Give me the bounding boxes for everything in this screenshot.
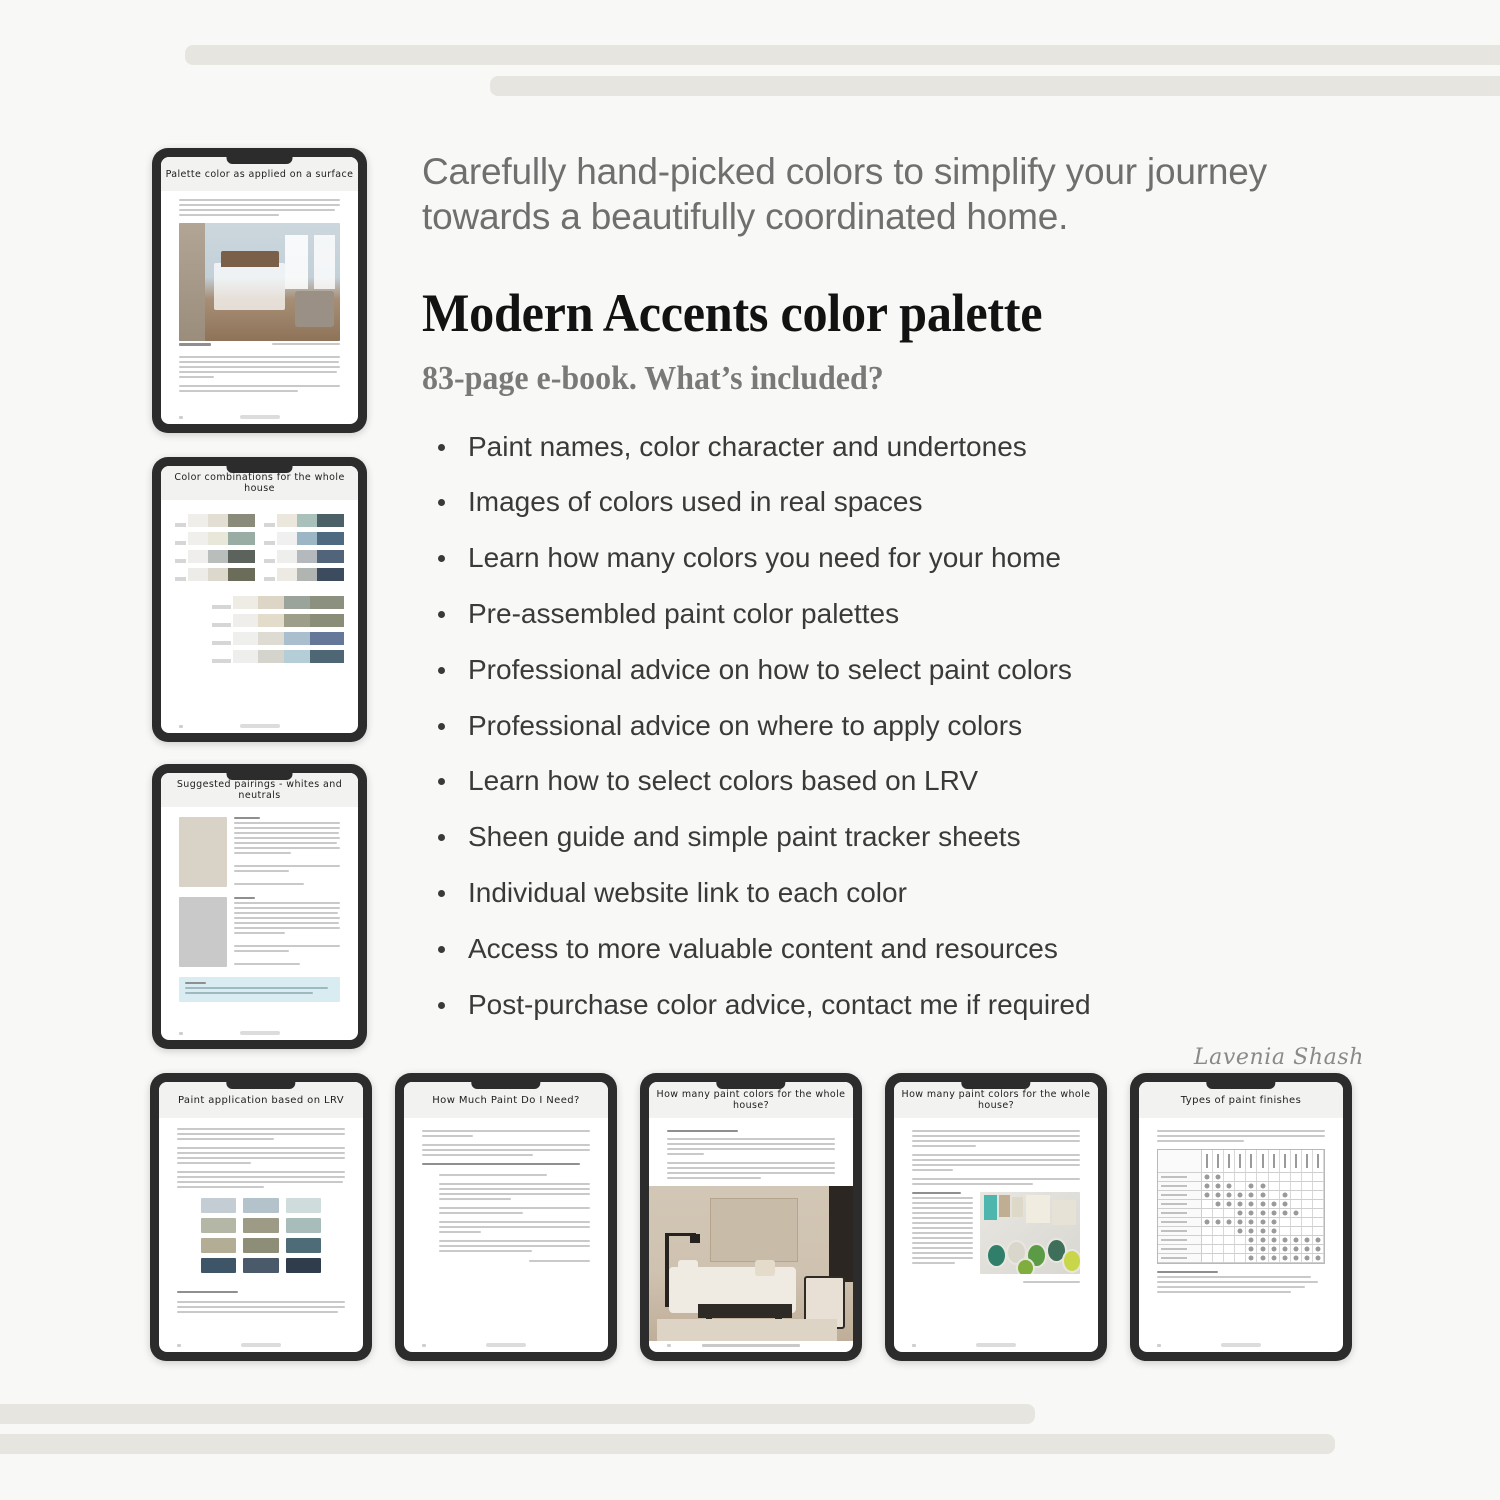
page-body: [159, 1118, 363, 1343]
feature-item-label: Access to more valuable content and reso…: [468, 933, 1058, 964]
table-cell: [1235, 1227, 1246, 1235]
table-column-header: [1235, 1150, 1246, 1172]
table-cell: [1269, 1191, 1280, 1199]
bullet-dot-icon: [438, 444, 445, 451]
decorative-bar-top-2: [490, 76, 1500, 96]
lrv-swatch: [201, 1258, 236, 1273]
tablet-mockup-paint-finishes[interactable]: Types of paint finishes: [1130, 1073, 1352, 1361]
table-cell-mark-icon: [1238, 1211, 1243, 1216]
table-cell: [1280, 1209, 1291, 1217]
table-cell-mark-icon: [1271, 1211, 1276, 1216]
table-cell: [1280, 1227, 1291, 1235]
color-swatch: [310, 614, 345, 627]
feature-item: Paint names, color character and underto…: [422, 432, 1382, 463]
table-cell: [1257, 1191, 1268, 1199]
table-cell: [1202, 1236, 1213, 1244]
table-cell: [1291, 1245, 1302, 1253]
color-swatch: [317, 550, 344, 563]
table-cell: [1313, 1245, 1324, 1253]
footer-signature: [240, 724, 280, 728]
page-title: Color combinations for the whole house: [161, 472, 358, 494]
table-cell: [1302, 1236, 1313, 1244]
color-swatch: [188, 568, 208, 581]
color-combination-row: [175, 514, 255, 527]
color-combination-row: [212, 632, 344, 645]
table-cell-mark-icon: [1227, 1202, 1232, 1207]
table-cell: [1280, 1254, 1291, 1262]
table-cell: [1291, 1191, 1302, 1199]
table-column-header: [1302, 1150, 1313, 1172]
table-cell-mark-icon: [1249, 1202, 1254, 1207]
combination-column-left: [175, 514, 255, 586]
table-cell: [1269, 1182, 1280, 1190]
table-cell-mark-icon: [1249, 1220, 1254, 1225]
tablet-screen: Color combinations for the whole house: [161, 466, 358, 733]
table-cell: [1269, 1200, 1280, 1208]
combination-label: [212, 605, 231, 609]
color-swatch: [284, 614, 310, 627]
table-cell: [1291, 1173, 1302, 1181]
color-swatch: [297, 514, 317, 527]
table-cell-mark-icon: [1293, 1238, 1298, 1243]
bullet-dot-icon: [438, 778, 445, 785]
tablet-notch-icon: [716, 1082, 785, 1089]
table-cell: [1280, 1200, 1291, 1208]
table-cell-mark-icon: [1315, 1238, 1320, 1243]
table-cell: [1235, 1245, 1246, 1253]
table-cell: [1246, 1173, 1257, 1181]
table-cell-mark-icon: [1249, 1256, 1254, 1261]
feature-item-label: Individual website link to each color: [468, 877, 907, 908]
table-cell-mark-icon: [1249, 1193, 1254, 1198]
tablet-screen: Paint application based on LRV: [159, 1082, 363, 1352]
table-cell: [1313, 1191, 1324, 1199]
feature-item: Professional advice on how to select pai…: [422, 655, 1382, 686]
color-swatch: [188, 550, 208, 563]
color-swatch: [317, 568, 344, 581]
table-cell-mark-icon: [1282, 1193, 1287, 1198]
tablet-screen: How Much Paint Do I Need?: [404, 1082, 608, 1352]
table-cell-mark-icon: [1315, 1256, 1320, 1261]
table-cell: [1302, 1182, 1313, 1190]
table-cell: [1257, 1173, 1268, 1181]
living-room-photo: [649, 1186, 853, 1341]
content-column: Carefully hand-picked colors to simplify…: [422, 150, 1382, 1070]
table-cell: [1280, 1173, 1291, 1181]
bold-subhead: [422, 1163, 579, 1165]
feature-item-label: Images of colors used in real spaces: [468, 486, 922, 517]
continued-note: [529, 1260, 589, 1262]
table-cell: [1235, 1209, 1246, 1217]
table-cell: [1280, 1182, 1291, 1190]
table-cell: [1257, 1236, 1268, 1244]
page-body: [161, 500, 358, 724]
paragraph: [667, 1162, 834, 1179]
table-row-label: [1158, 1236, 1202, 1244]
pairing-block: [179, 897, 341, 968]
page-body: [894, 1118, 1098, 1343]
feature-item: Pre-assembled paint color palettes: [422, 599, 1382, 630]
table-cell: [1224, 1227, 1235, 1235]
bullet-dot-icon: [438, 946, 445, 953]
page-number: [912, 1344, 916, 1347]
color-swatch: [258, 632, 284, 645]
table-cell: [1224, 1200, 1235, 1208]
color-swatch: [233, 596, 259, 609]
bullet-dot-icon: [438, 499, 445, 506]
feature-item-label: Learn how to select colors based on LRV: [468, 765, 978, 796]
table-cell: [1224, 1218, 1235, 1226]
table-row-label: [1158, 1173, 1202, 1181]
table-cell: [1213, 1254, 1224, 1262]
footer-links[interactable]: [702, 1344, 799, 1347]
color-swatch: [188, 514, 208, 527]
color-swatch: [310, 632, 345, 645]
combination-label: [175, 523, 186, 527]
table-cell: [1213, 1182, 1224, 1190]
combination-column-wide: [175, 596, 344, 663]
table-cell-mark-icon: [1271, 1256, 1276, 1261]
table-cell-mark-icon: [1249, 1247, 1254, 1252]
color-swatch: [233, 632, 259, 645]
table-row: [1158, 1200, 1323, 1209]
table-row-label: [1158, 1218, 1202, 1226]
page-body: [404, 1118, 608, 1343]
table-cell: [1213, 1200, 1224, 1208]
tablet-mockup-whole-house-palettes[interactable]: How many paint colors for the whole hous…: [885, 1073, 1107, 1361]
table-cell: [1302, 1218, 1313, 1226]
footer-signature: [1221, 1343, 1261, 1347]
table-cell-mark-icon: [1238, 1202, 1243, 1207]
color-chip: [179, 897, 227, 967]
table-cell-mark-icon: [1205, 1175, 1210, 1180]
tablet-notch-icon: [226, 466, 293, 473]
table-cell: [1246, 1209, 1257, 1217]
feature-item: Images of colors used in real spaces: [422, 487, 1382, 518]
table-cell: [1291, 1209, 1302, 1217]
table-cell: [1269, 1173, 1280, 1181]
table-cell: [1202, 1227, 1213, 1235]
bullet-dot-icon: [438, 723, 445, 730]
table-cell: [1302, 1254, 1313, 1262]
page-body: [161, 807, 358, 1031]
page-title: How many paint colors for the whole hous…: [894, 1089, 1098, 1111]
table-cell-mark-icon: [1216, 1193, 1221, 1198]
table-cell: [1213, 1227, 1224, 1235]
color-combination-row: [212, 614, 344, 627]
combination-label: [175, 577, 186, 581]
page-title: Types of paint finishes: [1181, 1095, 1301, 1106]
color-swatch: [228, 568, 255, 581]
feature-list: Paint names, color character and underto…: [422, 432, 1382, 1021]
table-cell-mark-icon: [1216, 1202, 1221, 1207]
tablet-mockup-whole-house-photo[interactable]: How many paint colors for the whole hous…: [640, 1073, 862, 1361]
table-cell: [1246, 1227, 1257, 1235]
table-cell: [1202, 1182, 1213, 1190]
table-cell-mark-icon: [1249, 1238, 1254, 1243]
lrv-swatch: [286, 1258, 321, 1273]
table-cell: [1257, 1182, 1268, 1190]
table-cell: [1291, 1236, 1302, 1244]
tablet-notch-icon: [1206, 1082, 1275, 1089]
table-column-header: [1313, 1150, 1324, 1172]
table-cell: [1280, 1245, 1291, 1253]
footer-signature: [240, 415, 280, 419]
table-cell: [1235, 1191, 1246, 1199]
table-cell: [1269, 1254, 1280, 1262]
page-subtitle: 83-page e-book. What’s included?: [422, 360, 1324, 398]
table-cell-mark-icon: [1249, 1184, 1254, 1189]
table-cell: [1246, 1218, 1257, 1226]
paragraph: [422, 1144, 589, 1156]
combination-label: [264, 559, 275, 563]
color-swatch: [258, 650, 284, 663]
paragraph: [912, 1178, 1079, 1185]
bullet-item: [439, 1240, 590, 1252]
color-combination-row: [212, 596, 344, 609]
table-column-header: [1291, 1150, 1302, 1172]
table-cell: [1269, 1227, 1280, 1235]
table-cell: [1224, 1173, 1235, 1181]
combination-label: [175, 559, 186, 563]
table-cell-mark-icon: [1260, 1202, 1265, 1207]
table-row: [1158, 1191, 1323, 1200]
table-cell-mark-icon: [1238, 1229, 1243, 1234]
continued-note: [1023, 1281, 1080, 1283]
color-swatch: [310, 650, 345, 663]
feature-item: Learn how many colors you need for your …: [422, 543, 1382, 574]
page-footer: [161, 415, 358, 424]
tablet-notch-icon: [961, 1082, 1030, 1089]
table-cell: [1302, 1245, 1313, 1253]
table-cell: [1235, 1218, 1246, 1226]
page-footer: [649, 1341, 853, 1352]
decorative-bar-bottom-2: [0, 1434, 1335, 1454]
paragraph: [667, 1138, 834, 1155]
bullet-dot-icon: [438, 1002, 445, 1009]
color-combination-row: [175, 550, 255, 563]
table-cell: [1313, 1218, 1324, 1226]
color-swatch: [258, 614, 284, 627]
color-swatch: [297, 568, 317, 581]
bullet-item: [439, 1221, 590, 1233]
page-title: Suggested pairings - whites and neutrals: [161, 779, 358, 801]
feature-item: Professional advice on where to apply co…: [422, 711, 1382, 742]
table-cell: [1224, 1182, 1235, 1190]
lrv-swatch: [201, 1218, 236, 1233]
table-cell: [1291, 1227, 1302, 1235]
table-cell: [1302, 1173, 1313, 1181]
tablet-mockup-lrv[interactable]: Paint application based on LRV: [150, 1073, 372, 1361]
combination-label: [212, 623, 231, 627]
lrv-swatch: [286, 1218, 321, 1233]
surface-finish-definitions: [1157, 1271, 1324, 1293]
table-row: [1158, 1182, 1323, 1191]
tablet-mockup-how-much-paint[interactable]: How Much Paint Do I Need?: [395, 1073, 617, 1361]
color-swatch: [317, 532, 344, 545]
table-cell: [1257, 1200, 1268, 1208]
feature-item-label: Sheen guide and simple paint tracker she…: [468, 821, 1021, 852]
table-cell: [1269, 1245, 1280, 1253]
table-cell-mark-icon: [1260, 1256, 1265, 1261]
combination-label: [264, 541, 275, 545]
table-cell: [1313, 1182, 1324, 1190]
lrv-swatch: [286, 1198, 321, 1213]
table-cell-mark-icon: [1282, 1211, 1287, 1216]
table-cell-mark-icon: [1260, 1211, 1265, 1216]
color-swatch: [284, 596, 310, 609]
page-title: Palette color as applied on a surface: [166, 169, 354, 180]
table-cell: [1257, 1254, 1268, 1262]
table-cell: [1224, 1236, 1235, 1244]
table-cell-mark-icon: [1271, 1220, 1276, 1225]
tablet-mockup-palette-surface[interactable]: Palette color as applied on a surface: [152, 148, 367, 433]
table-cell: [1235, 1236, 1246, 1244]
footer-signature: [486, 1343, 526, 1347]
table-cell: [1213, 1209, 1224, 1217]
table-cell: [1313, 1236, 1324, 1244]
tablet-notch-icon: [226, 773, 293, 780]
table-cell: [1269, 1218, 1280, 1226]
page-footer: [159, 1343, 363, 1352]
bullet-item: [439, 1207, 590, 1214]
combination-label: [212, 641, 231, 645]
table-cell-mark-icon: [1216, 1175, 1221, 1180]
feature-item-label: Pre-assembled paint color palettes: [468, 598, 899, 629]
color-swatch: [228, 514, 255, 527]
table-cell-mark-icon: [1293, 1247, 1298, 1252]
table-cell: [1224, 1254, 1235, 1262]
lrv-swatch: [201, 1238, 236, 1253]
color-swatch: [208, 550, 228, 563]
table-cell-mark-icon: [1282, 1238, 1287, 1243]
table-cell: [1302, 1209, 1313, 1217]
feature-item-label: Paint names, color character and underto…: [468, 431, 1027, 462]
table-cell: [1202, 1200, 1213, 1208]
table-cell-mark-icon: [1205, 1193, 1210, 1198]
table-cell-mark-icon: [1282, 1202, 1287, 1207]
table-cell: [1302, 1200, 1313, 1208]
color-swatch: [297, 532, 317, 545]
table-cell: [1246, 1200, 1257, 1208]
table-cell: [1202, 1254, 1213, 1262]
lrv-swatch: [286, 1238, 321, 1253]
color-swatch: [208, 568, 228, 581]
table-row: [1158, 1209, 1323, 1218]
color-combination-row: [264, 568, 344, 581]
table-cell: [1257, 1245, 1268, 1253]
table-cell: [1235, 1182, 1246, 1190]
color-combination-row: [264, 532, 344, 545]
color-swatch: [228, 532, 255, 545]
bullet-item: [439, 1174, 590, 1176]
paragraph: [179, 199, 341, 216]
combination-label: [264, 523, 275, 527]
table-row-label: [1158, 1200, 1202, 1208]
table-cell: [1246, 1191, 1257, 1199]
table-cell-mark-icon: [1271, 1238, 1276, 1243]
table-cell: [1246, 1245, 1257, 1253]
table-cell-mark-icon: [1315, 1247, 1320, 1252]
feature-item-label: Professional advice on where to apply co…: [468, 710, 1022, 741]
combination-label: [264, 577, 275, 581]
page-footer: [404, 1343, 608, 1352]
tablet-screen: How many paint colors for the whole hous…: [894, 1082, 1098, 1352]
table-column-header: [1257, 1150, 1268, 1172]
tablet-screen: Suggested pairings - whites and neutrals: [161, 773, 358, 1040]
table-cell-mark-icon: [1238, 1193, 1243, 1198]
tablet-notch-icon: [226, 157, 293, 164]
tablet-screen: How many paint colors for the whole hous…: [649, 1082, 853, 1352]
table-row-label: [1158, 1227, 1202, 1235]
table-cell: [1235, 1200, 1246, 1208]
tablet-screen: Types of paint finishes: [1139, 1082, 1343, 1352]
table-row-label: [1158, 1254, 1202, 1262]
page-footer: [161, 724, 358, 733]
table-row: [1158, 1236, 1323, 1245]
table-cell: [1257, 1218, 1268, 1226]
page-body: [1139, 1118, 1343, 1343]
tablet-mockup-suggested-pairings[interactable]: Suggested pairings - whites and neutrals: [152, 764, 367, 1049]
tablet-mockup-color-combinations[interactable]: Color combinations for the whole house: [152, 457, 367, 742]
table-cell: [1246, 1236, 1257, 1244]
combination-column-right: [264, 514, 344, 586]
room-photo: [179, 223, 341, 341]
photo-caption-left: [179, 343, 211, 346]
color-swatch: [277, 568, 297, 581]
table-cell: [1313, 1173, 1324, 1181]
color-chip: [179, 817, 227, 887]
table-cell-mark-icon: [1260, 1229, 1265, 1234]
color-swatch: [188, 532, 208, 545]
table-cell: [1313, 1209, 1324, 1217]
table-cell: [1291, 1200, 1302, 1208]
table-cell-mark-icon: [1238, 1220, 1243, 1225]
feature-item: Sheen guide and simple paint tracker she…: [422, 822, 1382, 853]
bullet-item: [439, 1183, 590, 1200]
lrv-swatch: [243, 1258, 278, 1273]
page-number: [667, 1344, 671, 1347]
table-cell-mark-icon: [1271, 1202, 1276, 1207]
table-column-header: [1269, 1150, 1280, 1172]
feature-item: Learn how to select colors based on LRV: [422, 766, 1382, 797]
bullet-dot-icon: [438, 555, 445, 562]
color-combination-row: [175, 568, 255, 581]
table-column-header: [1202, 1150, 1213, 1172]
paint-cans-photo: [980, 1192, 1080, 1274]
table-corner-cell: [1158, 1150, 1202, 1172]
page-title: Paint application based on LRV: [178, 1095, 344, 1106]
table-cell: [1235, 1173, 1246, 1181]
page-title: How many paint colors for the whole hous…: [649, 1089, 853, 1111]
page-footer: [894, 1343, 1098, 1352]
table-header-row: [1158, 1150, 1323, 1173]
color-combination-row: [175, 532, 255, 545]
table-cell-mark-icon: [1260, 1184, 1265, 1189]
paragraph: [912, 1154, 1079, 1171]
color-swatch: [233, 614, 259, 627]
combination-columns: [175, 514, 344, 586]
feature-item: Access to more valuable content and reso…: [422, 934, 1382, 965]
lrv-swatch-grid: [201, 1198, 321, 1273]
decorative-bar-top-1: [185, 45, 1500, 65]
table-row: [1158, 1245, 1323, 1254]
paragraph: [422, 1130, 589, 1137]
table-cell-mark-icon: [1249, 1229, 1254, 1234]
table-cell: [1280, 1218, 1291, 1226]
paragraph: [179, 385, 341, 392]
table-column-header: [1224, 1150, 1235, 1172]
